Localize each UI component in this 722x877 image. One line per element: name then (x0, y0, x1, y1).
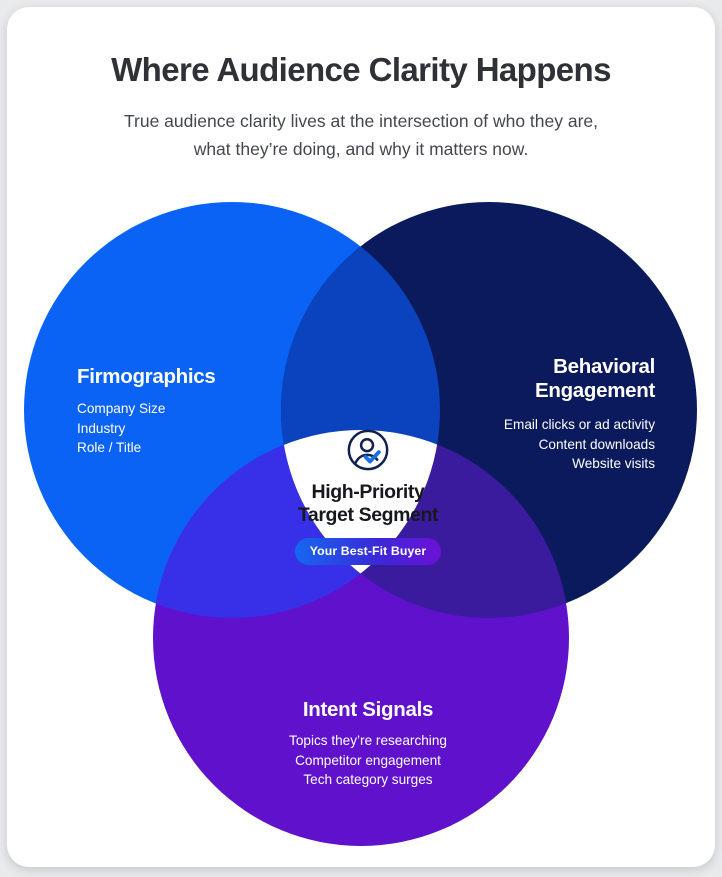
venn-label-firmographics: Firmographics Company Size Industry Role… (77, 365, 287, 458)
behavioral-heading-line-1: Behavioral (427, 355, 655, 379)
intent-item-1: Topics they’re researching (242, 731, 494, 751)
intent-item-2: Competitor engagement (242, 751, 494, 771)
center-intersection-content: High-Priority Target Segment Your Best-F… (265, 427, 471, 565)
user-check-icon (345, 427, 391, 473)
behavioral-heading-line-2: Engagement (427, 379, 655, 403)
intent-item-3: Tech category surges (242, 770, 494, 790)
best-fit-buyer-badge[interactable]: Your Best-Fit Buyer (295, 538, 441, 565)
firmographics-item-3: Role / Title (77, 438, 287, 458)
firmographics-item-1: Company Size (77, 399, 287, 419)
venn-label-intent-signals: Intent Signals Topics they’re researchin… (242, 698, 494, 790)
firmographics-item-2: Industry (77, 419, 287, 439)
firmographics-heading: Firmographics (77, 365, 287, 389)
intent-heading: Intent Signals (242, 698, 494, 722)
infographic-card: Where Audience Clarity Happens True audi… (7, 7, 715, 867)
center-title-line-2: Target Segment (265, 504, 471, 527)
center-title: High-Priority Target Segment (265, 481, 471, 527)
center-title-line-1: High-Priority (265, 481, 471, 504)
